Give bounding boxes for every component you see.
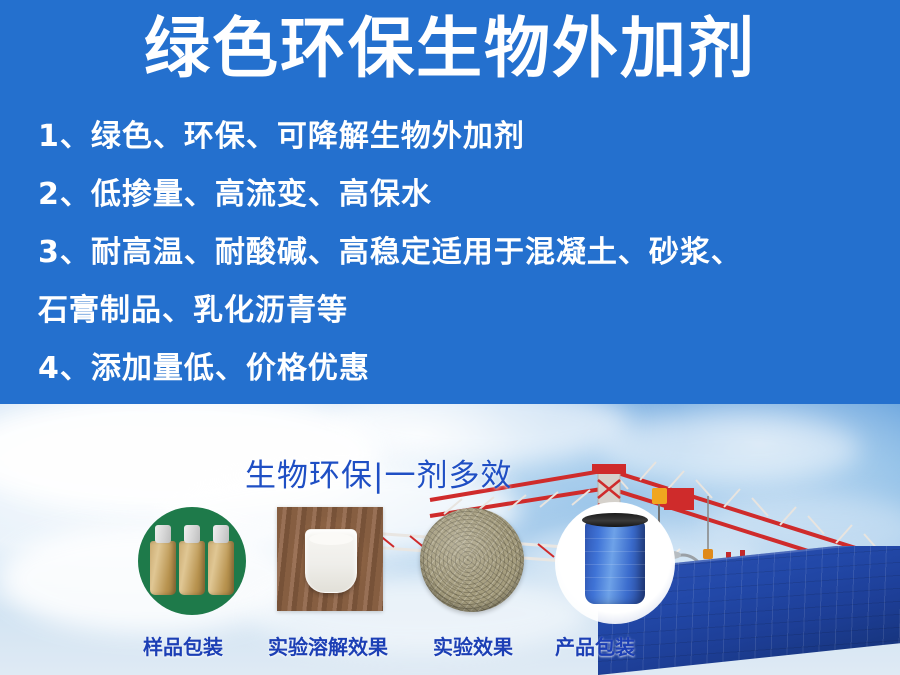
product-shot-sample-packaging bbox=[138, 507, 246, 615]
page-title: 绿色环保生物外加剂 bbox=[0, 8, 900, 90]
product-caption: 产品包装 bbox=[555, 635, 635, 659]
feature-list: 1、绿色、环保、可降解生物外加剂 2、低掺量、高流变、高保水 3、耐高温、耐酸碱… bbox=[38, 108, 878, 398]
bottle-icon bbox=[179, 541, 205, 595]
product-caption: 实验效果 bbox=[433, 635, 513, 659]
drum-body bbox=[585, 520, 645, 604]
product-shot-test-result bbox=[420, 508, 524, 612]
feature-item: 3、耐高温、耐酸碱、高稳定适用于混凝土、砂浆、 bbox=[38, 224, 878, 282]
product-shot-dissolution bbox=[277, 507, 383, 611]
bottle-icon bbox=[208, 541, 234, 595]
headline-banner: 绿色环保生物外加剂 1、绿色、环保、可降解生物外加剂 2、低掺量、高流变、高保水… bbox=[0, 0, 900, 404]
scene-subtitle: 生物环保|一剂多效 bbox=[245, 458, 512, 494]
sample-bottles-icon bbox=[138, 507, 246, 615]
feature-item: 石膏制品、乳化沥青等 bbox=[38, 282, 878, 340]
product-caption: 实验溶解效果 bbox=[268, 635, 388, 659]
product-caption: 样品包装 bbox=[143, 635, 223, 659]
bottle-icon bbox=[150, 541, 176, 595]
feature-item: 2、低掺量、高流变、高保水 bbox=[38, 166, 878, 224]
feature-item: 4、添加量低、价格优惠 bbox=[38, 340, 878, 398]
beaker-icon bbox=[305, 529, 357, 593]
feature-item: 1、绿色、环保、可降解生物外加剂 bbox=[38, 108, 878, 166]
product-shot-packaging bbox=[555, 502, 675, 624]
blue-drum-icon bbox=[555, 502, 675, 624]
mortar-sample-icon bbox=[420, 508, 524, 612]
construction-scene: 生物环保|一剂多效 样品包装 实验溶解效果 实验效果 bbox=[0, 404, 900, 675]
beaker-dissolution-icon bbox=[277, 507, 383, 611]
product-poster: 绿色环保生物外加剂 1、绿色、环保、可降解生物外加剂 2、低掺量、高流变、高保水… bbox=[0, 0, 900, 675]
